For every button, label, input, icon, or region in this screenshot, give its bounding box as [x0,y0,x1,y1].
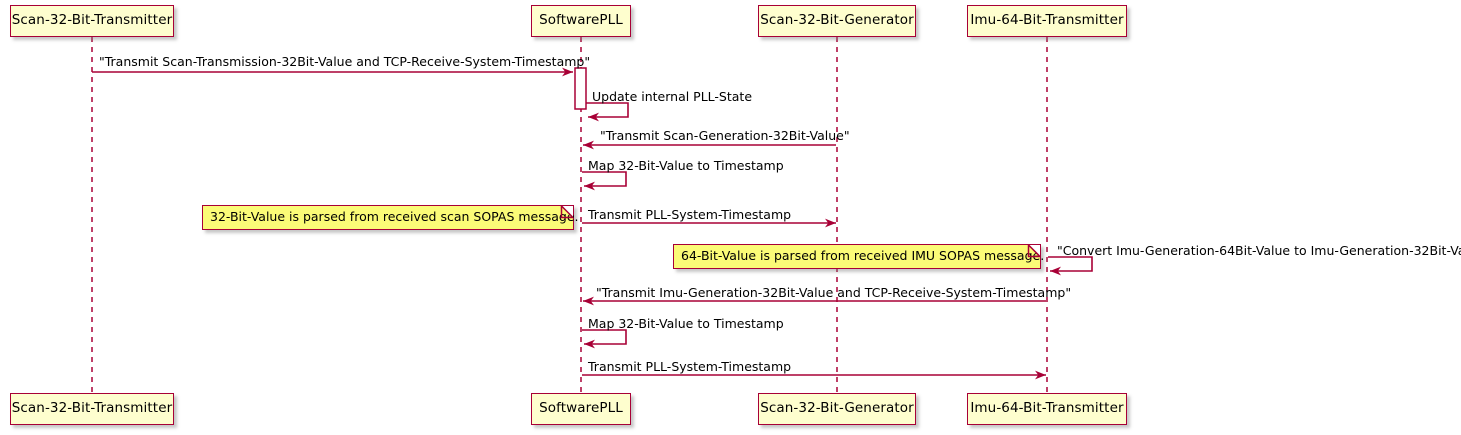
note-fold-corner-icon [1029,245,1040,256]
participant-imu_tx-top[interactable]: Imu-64-Bit-Transmitter [967,5,1127,37]
participant-label: Scan-32-Bit-Transmitter [12,14,173,28]
message-label-m6: "Convert Imu-Generation-64Bit-Value to I… [1057,245,1461,258]
self-message-arrow-m6 [1048,257,1092,271]
participant-imu_tx-bottom[interactable]: Imu-64-Bit-Transmitter [967,393,1127,425]
participant-pll-top[interactable]: SoftwarePLL [531,5,631,37]
note-text: 64-Bit-Value is parsed from received IMU… [681,250,1044,263]
message-label-m2: Update internal PLL-State [592,91,752,104]
participant-pll-bottom[interactable]: SoftwarePLL [531,393,631,425]
message-label-m8: Map 32-Bit-Value to Timestamp [588,318,784,331]
message-label-m3: "Transmit Scan-Generation-32Bit-Value" [600,130,850,143]
self-message-arrow-m4 [582,172,626,186]
participant-label: Scan-32-Bit-Generator [760,402,914,416]
participant-scan_tx-bottom[interactable]: Scan-32-Bit-Transmitter [10,393,174,425]
participant-label: Imu-64-Bit-Transmitter [970,14,1123,28]
self-message-arrow-m2 [586,103,628,117]
message-label-m9: Transmit PLL-System-Timestamp [588,361,791,374]
message-label-m5: Transmit PLL-System-Timestamp [588,209,791,222]
message-label-m4: Map 32-Bit-Value to Timestamp [588,160,784,173]
note-note1: 32-Bit-Value is parsed from received sca… [202,205,574,230]
participant-label: SoftwarePLL [539,14,623,28]
activation-bar-pll [575,68,586,109]
participant-label: Scan-32-Bit-Generator [760,14,914,28]
note-text: 32-Bit-Value is parsed from received sca… [210,211,579,224]
self-message-arrow-m8 [582,330,626,344]
participant-label: SoftwarePLL [539,402,623,416]
participant-scan_tx-top[interactable]: Scan-32-Bit-Transmitter [10,5,174,37]
message-label-m1: "Transmit Scan-Transmission-32Bit-Value … [99,56,590,69]
participant-label: Imu-64-Bit-Transmitter [970,402,1123,416]
participant-scan_gen-bottom[interactable]: Scan-32-Bit-Generator [758,393,916,425]
message-label-m7: "Transmit Imu-Generation-32Bit-Value and… [596,287,1071,300]
note-note2: 64-Bit-Value is parsed from received IMU… [673,244,1041,269]
sequence-diagram: Scan-32-Bit-TransmitterScan-32-Bit-Trans… [0,0,1461,435]
participant-label: Scan-32-Bit-Transmitter [12,402,173,416]
note-fold-corner-icon [562,206,573,217]
participant-scan_gen-top[interactable]: Scan-32-Bit-Generator [758,5,916,37]
activations-group [575,68,586,109]
